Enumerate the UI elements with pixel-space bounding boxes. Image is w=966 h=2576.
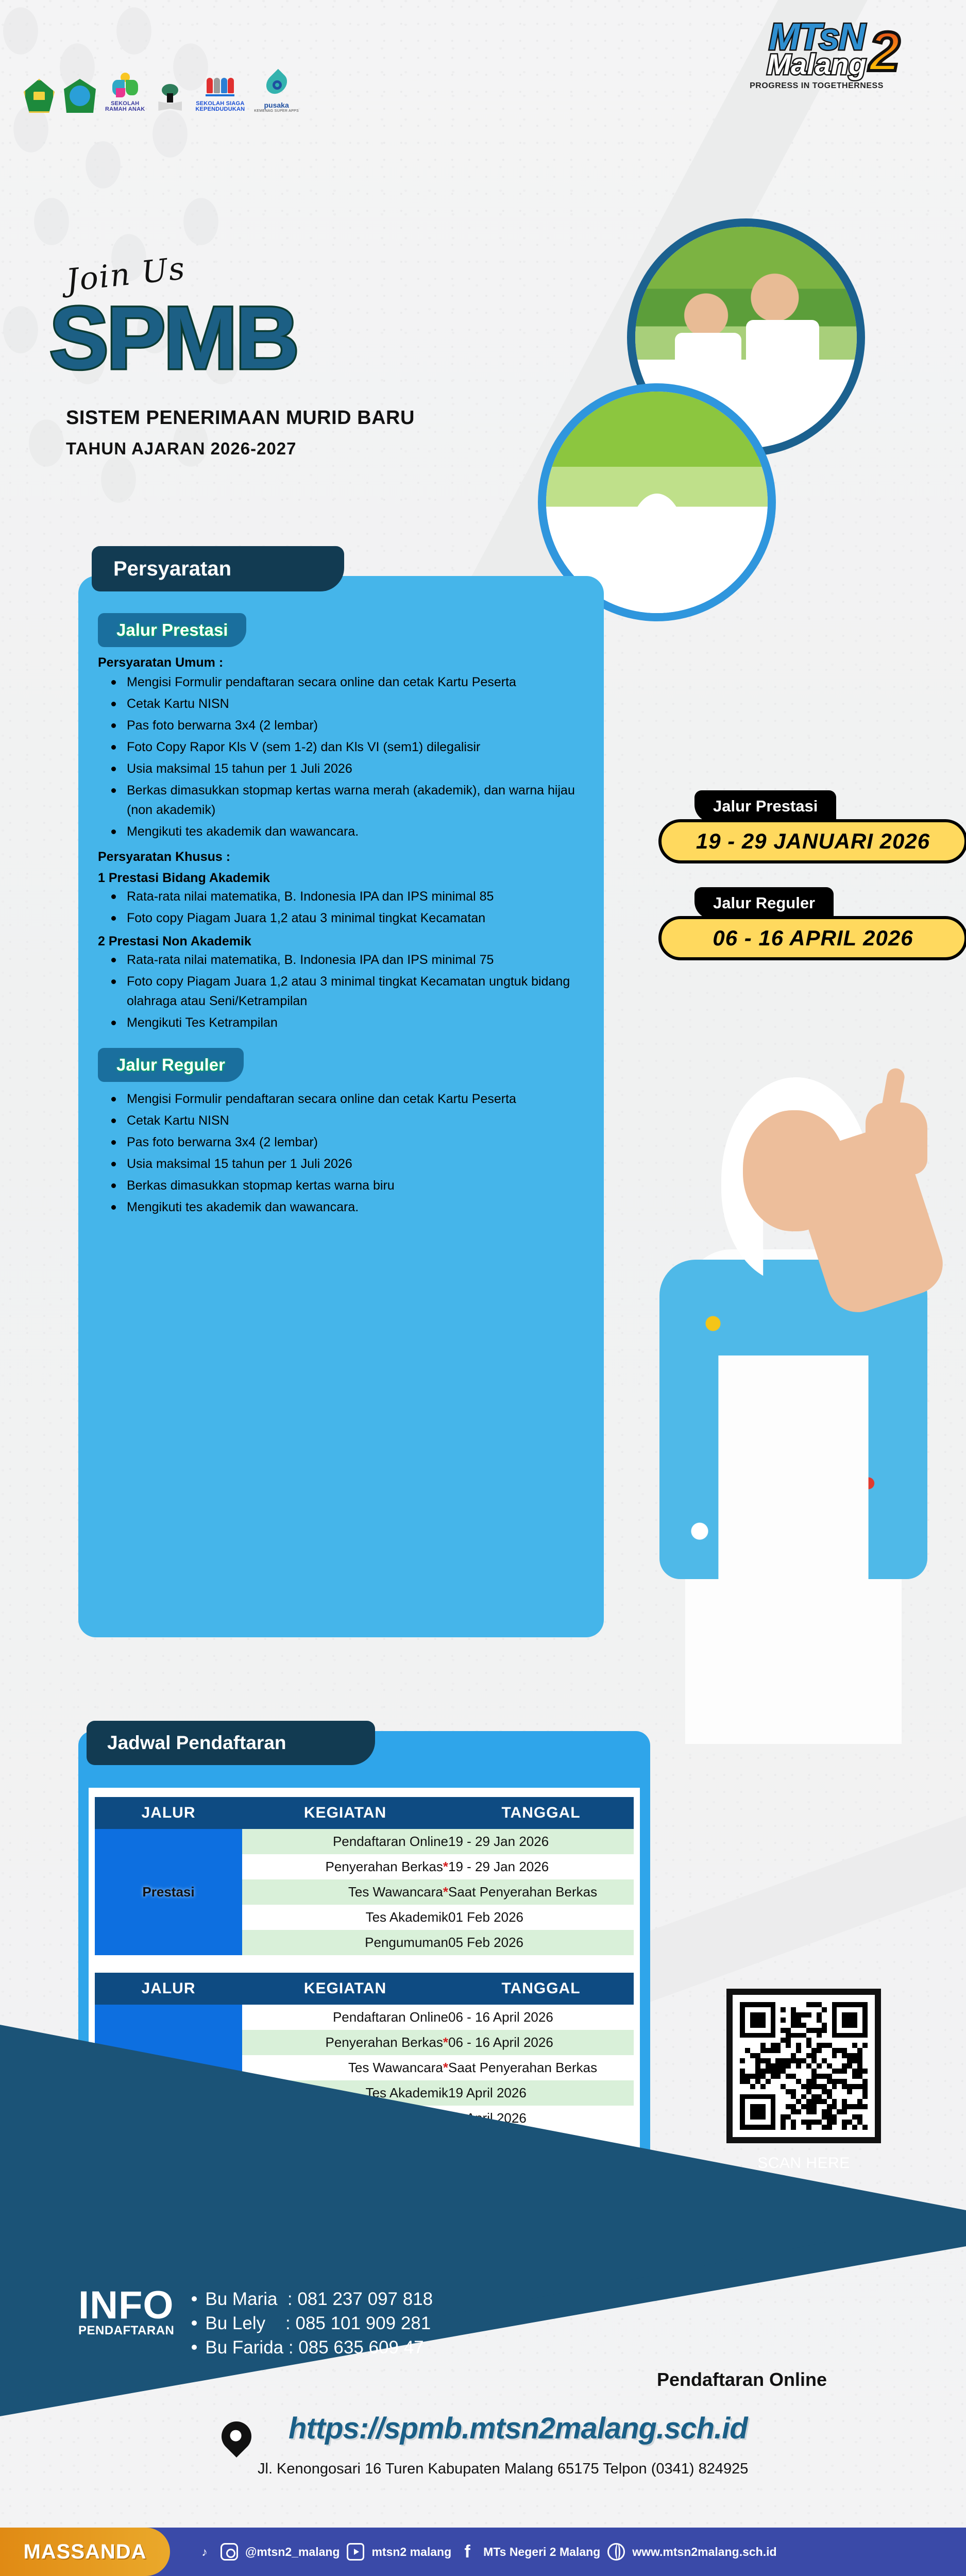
persyaratan-umum-list: Mengisi Formulir pendaftaran secara onli… (107, 672, 582, 841)
kegiatan-cell: Tes Wawancara* (242, 1879, 448, 1905)
date-badge-reguler-label: Jalur Reguler (694, 887, 834, 919)
location-pin-icon (222, 2421, 253, 2466)
tanggal-cell: 19 April 2026 (448, 2080, 634, 2106)
jalur-cell-prestasi: Prestasi (95, 1829, 242, 1955)
school-logo-number: 2 (869, 24, 900, 79)
table-row: Prestasi Pendaftaran Online 19 - 29 Jan … (95, 1829, 634, 1854)
kegiatan-cell: Pendaftaran Online (242, 2005, 448, 2030)
col-header-tanggal: TANGGAL (448, 1797, 634, 1829)
requirements-title: Persyaratan (92, 546, 344, 591)
asterisk-marker: * (443, 1884, 448, 1900)
list-item: Mengikuti Tes Ketrampilan (107, 1013, 582, 1032)
partner-logo-row: SEKOLAHRAMAH ANAK SEKOLAH SIAGAKEPENDUDU… (24, 72, 299, 113)
qr-modules (740, 2002, 868, 2130)
date-badge-prestasi-label: Jalur Prestasi (694, 790, 836, 822)
col-header-kegiatan: KEGIATAN (242, 1797, 448, 1829)
scan-here-label: SCAN HERE (716, 2155, 891, 2172)
school-year: TAHUN AJARAN 2026-2027 (66, 439, 296, 459)
table-header-row: JALUR KEGIATAN TANGGAL (95, 1973, 634, 2005)
sekolah-ramah-anak-label: SEKOLAHRAMAH ANAK (105, 101, 145, 113)
registration-heading: Pendaftaran Online (657, 2369, 827, 2391)
youtube-icon[interactable] (347, 2543, 364, 2561)
list-item: Bu Maria : 081 237 097 818 (188, 2287, 433, 2312)
facebook-icon[interactable]: f (459, 2543, 476, 2561)
tanggal-cell: 19 - 29 Jan 2026 (448, 1854, 634, 1879)
social-media-row: ♪ @mtsn2_malang mtsn2 malang f MTs Neger… (196, 2528, 777, 2576)
pill-jalur-prestasi: Jalur Prestasi (98, 613, 246, 647)
adiwiyata-logo (154, 81, 186, 113)
table-row: Reguler Pendaftaran Online 06 - 16 April… (95, 2005, 634, 2030)
info-word-main: INFO (78, 2287, 174, 2324)
prestasi-akademik-heading: 1 Prestasi Bidang Akademik (98, 871, 582, 886)
youtube-handle[interactable]: mtsn2 malang (371, 2545, 451, 2559)
list-item: Bu Lely : 085 101 909 281 (188, 2312, 433, 2336)
table-header-row: JALUR KEGIATAN TANGGAL (95, 1797, 634, 1829)
schedule-table-prestasi: JALUR KEGIATAN TANGGAL Prestasi Pendafta… (95, 1797, 634, 1955)
list-item: Foto copy Piagam Juara 1,2 atau 3 minima… (107, 908, 582, 928)
tanggal-cell: 06 - 16 April 2026 (448, 2005, 634, 2030)
list-item: Usia maksimal 15 tahun per 1 Juli 2026 (107, 759, 582, 778)
reguler-list: Mengisi Formulir pendaftaran secara onli… (107, 1089, 582, 1217)
ssk-label: SEKOLAH SIAGAKEPENDUDUKAN (195, 101, 245, 113)
kegiatan-cell: Tes Akademik (242, 1905, 448, 1930)
kemenag-logo (24, 79, 55, 113)
instagram-handle[interactable]: @mtsn2_malang (245, 2545, 340, 2559)
prestasi-non-akademik-heading: 2 Prestasi Non Akademik (98, 934, 582, 949)
qr-section: SCAN HERE (716, 1989, 891, 2172)
prestasi-akademik-list: Rata-rata nilai matematika, B. Indonesia… (107, 887, 582, 928)
kegiatan-cell: Pendaftaran Online (242, 1829, 448, 1854)
info-section: INFO PENDAFTARAN Bu Maria : 081 237 097 … (78, 2287, 433, 2360)
asterisk-marker: * (443, 2060, 448, 2075)
date-badge-reguler: Jalur Reguler 06 - 16 APRIL 2026 (658, 887, 966, 960)
tiktok-icon[interactable]: ♪ (196, 2543, 213, 2561)
mtsn2-seal-logo (64, 79, 96, 113)
date-badge-prestasi: Jalur Prestasi 19 - 29 JANUARI 2026 (658, 790, 966, 863)
list-item: Cetak Kartu NISN (107, 1111, 582, 1130)
spmb-subtitle: SISTEM PENERIMAAN MURID BARU (66, 407, 415, 429)
website-url[interactable]: www.mtsn2malang.sch.id (632, 2545, 776, 2559)
list-item: Foto copy Piagam Juara 1,2 atau 3 minima… (107, 972, 582, 1011)
registration-url[interactable]: https://spmb.mtsn2malang.sch.id (289, 2411, 748, 2446)
pill-jalur-reguler: Jalur Reguler (98, 1048, 244, 1082)
kegiatan-cell: Pengumuman (242, 1930, 448, 1955)
kegiatan-cell: Penyerahan Berkas* (242, 1854, 448, 1879)
tanggal-cell: 19 - 29 Jan 2026 (448, 1829, 634, 1854)
sekolah-siaga-kependudukan-logo: SEKOLAH SIAGAKEPENDUDUKAN (195, 73, 245, 113)
col-header-jalur: JALUR (95, 1973, 242, 2005)
list-item: Usia maksimal 15 tahun per 1 Juli 2026 (107, 1154, 582, 1174)
list-item: Rata-rata nilai matematika, B. Indonesia… (107, 887, 582, 906)
pusaka-sublabel: KEMENAG SUPER APPS (254, 109, 299, 113)
list-item: Mengisi Formulir pendaftaran secara onli… (107, 672, 582, 692)
contact-list: Bu Maria : 081 237 097 818 Bu Lely : 085… (188, 2287, 433, 2360)
tanggal-cell: Saat Penyerahan Berkas (448, 1879, 634, 1905)
persyaratan-khusus-heading: Persyaratan Khusus : (98, 850, 582, 865)
list-item: Foto Copy Rapor Kls V (sem 1-2) dan Kls … (107, 737, 582, 757)
col-header-tanggal: TANGGAL (448, 1973, 634, 2005)
asterisk-marker: * (443, 2035, 448, 2050)
col-header-jalur: JALUR (95, 1797, 242, 1829)
footer-bar: MASSANDA ♪ @mtsn2_malang mtsn2 malang f … (0, 2528, 966, 2576)
globe-icon[interactable] (607, 2543, 625, 2561)
list-item: Bu Farida : 085 635 609 47 (188, 2336, 433, 2360)
tanggal-cell: 06 - 16 April 2026 (448, 2030, 634, 2055)
tanggal-cell: Saat Penyerahan Berkas (448, 2055, 634, 2080)
date-badge-prestasi-range: 19 - 29 JANUARI 2026 (658, 819, 966, 863)
list-item: Mengisi Formulir pendaftaran secara onli… (107, 1089, 582, 1109)
facebook-handle[interactable]: MTs Negeri 2 Malang (483, 2545, 600, 2559)
asterisk-marker: * (443, 1859, 448, 1874)
school-logo: MTsN 2 Malang PROGRESS IN TOGETHERNESS (724, 21, 909, 91)
date-badge-reguler-range: 06 - 16 APRIL 2026 (658, 916, 966, 960)
col-header-kegiatan: KEGIATAN (242, 1973, 448, 2005)
student-photo-pointing (623, 981, 953, 1744)
spmb-acronym: SPMB (49, 294, 297, 382)
requirements-content: Jalur Prestasi Persyaratan Umum : Mengis… (98, 613, 582, 1219)
massanda-brand: MASSANDA (0, 2528, 170, 2576)
persyaratan-umum-heading: Persyaratan Umum : (98, 655, 582, 670)
list-item: Rata-rata nilai matematika, B. Indonesia… (107, 950, 582, 970)
list-item: Mengikuti tes akademik dan wawancara. (107, 822, 582, 841)
prestasi-non-akademik-list: Rata-rata nilai matematika, B. Indonesia… (107, 950, 582, 1032)
kegiatan-cell: Tes Wawancara* (242, 2055, 448, 2080)
tanggal-cell: 01 Feb 2026 (448, 1905, 634, 1930)
list-item: Mengikuti tes akademik dan wawancara. (107, 1197, 582, 1217)
list-item: Pas foto berwarna 3x4 (2 lembar) (107, 716, 582, 735)
list-item: Berkas dimasukkan stopmap kertas warna m… (107, 781, 582, 820)
list-item: Berkas dimasukkan stopmap kertas warna b… (107, 1176, 582, 1195)
list-item: Pas foto berwarna 3x4 (2 lembar) (107, 1132, 582, 1152)
instagram-icon[interactable] (221, 2543, 238, 2561)
pusaka-logo: pusaka KEMENAG SUPER APPS (254, 72, 299, 113)
info-word-sub: PENDAFTARAN (78, 2324, 174, 2338)
sekolah-ramah-anak-logo: SEKOLAHRAMAH ANAK (105, 73, 145, 113)
kegiatan-cell: Penyerahan Berkas* (242, 2030, 448, 2055)
qr-code[interactable] (726, 1989, 881, 2143)
tanggal-cell: 05 Feb 2026 (448, 1930, 634, 1955)
schedule-title: Jadwal Pendaftaran (87, 1721, 375, 1765)
school-address: Jl. Kenongosari 16 Turen Kabupaten Malan… (258, 2461, 748, 2478)
list-item: Cetak Kartu NISN (107, 694, 582, 714)
info-word: INFO PENDAFTARAN (78, 2287, 174, 2338)
pusaka-label: pusaka (264, 101, 289, 109)
school-tagline: PROGRESS IN TOGETHERNESS (724, 81, 909, 91)
